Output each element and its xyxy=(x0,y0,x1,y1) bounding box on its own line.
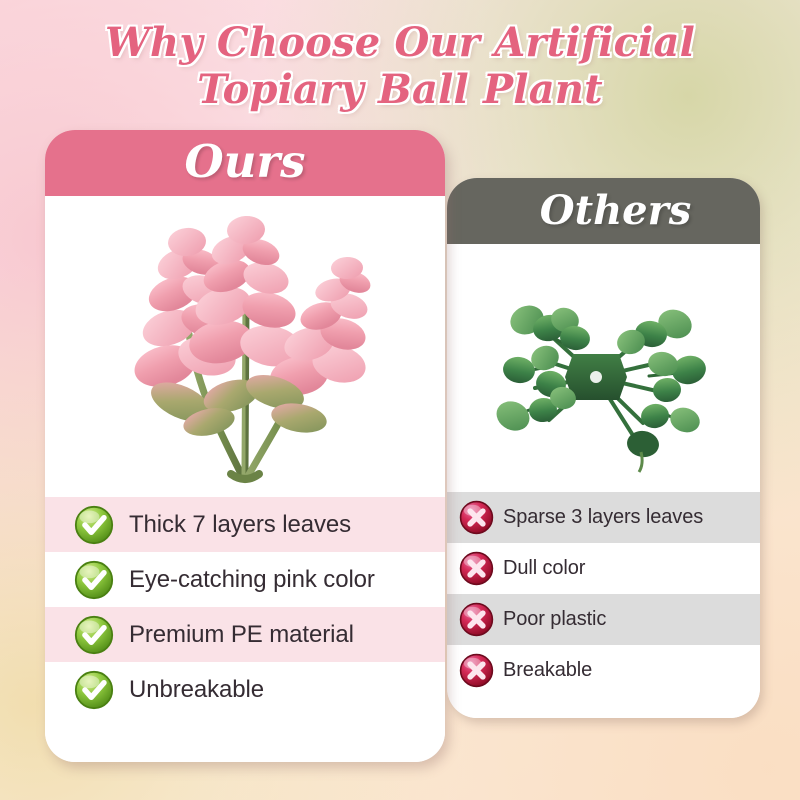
x-circle-icon xyxy=(459,653,494,688)
list-item-label: Breakable xyxy=(503,659,592,682)
list-item: Unbreakable xyxy=(45,662,445,717)
ours-product-image xyxy=(45,196,445,497)
infographic-canvas: Why Choose Our Artificial Topiary Ball P… xyxy=(0,0,800,800)
list-item: Premium PE material xyxy=(45,607,445,662)
others-header-label: Others xyxy=(540,187,691,234)
ours-card-footer-space xyxy=(45,717,445,762)
list-item-label: Sparse 3 layers leaves xyxy=(503,506,703,529)
list-item: Dull color xyxy=(447,543,760,594)
list-item-label: Poor plastic xyxy=(503,608,606,631)
sparse-green-plastic-plant-icon xyxy=(491,280,716,475)
list-item-label: Premium PE material xyxy=(129,621,354,649)
ours-card-header: Ours xyxy=(45,130,445,196)
pink-artificial-topiary-plant-icon xyxy=(103,206,388,491)
ours-card: Ours xyxy=(45,130,445,762)
list-item: Eye-catching pink color xyxy=(45,552,445,607)
list-item-label: Eye-catching pink color xyxy=(129,566,375,594)
page-title: Why Choose Our Artificial Topiary Ball P… xyxy=(0,20,800,114)
others-feature-list: Sparse 3 layers leaves Dull color Poor p… xyxy=(447,492,760,718)
ours-feature-list: Thick 7 layers leaves Eye-catching pink … xyxy=(45,497,445,762)
list-item: Breakable xyxy=(447,645,760,696)
others-card-footer-space xyxy=(447,696,760,718)
x-circle-icon xyxy=(459,551,494,586)
x-circle-icon xyxy=(459,500,494,535)
list-item-label: Thick 7 layers leaves xyxy=(129,511,351,539)
others-card: Others xyxy=(447,178,760,718)
x-circle-icon xyxy=(459,602,494,637)
list-item: Sparse 3 layers leaves xyxy=(447,492,760,543)
list-item-label: Dull color xyxy=(503,557,585,580)
check-circle-icon xyxy=(74,670,114,710)
list-item: Poor plastic xyxy=(447,594,760,645)
ours-header-label: Ours xyxy=(185,135,306,188)
others-product-image xyxy=(447,244,760,492)
check-circle-icon xyxy=(74,505,114,545)
check-circle-icon xyxy=(74,560,114,600)
list-item-label: Unbreakable xyxy=(129,676,264,704)
others-card-header: Others xyxy=(447,178,760,244)
list-item: Thick 7 layers leaves xyxy=(45,497,445,552)
check-circle-icon xyxy=(74,615,114,655)
